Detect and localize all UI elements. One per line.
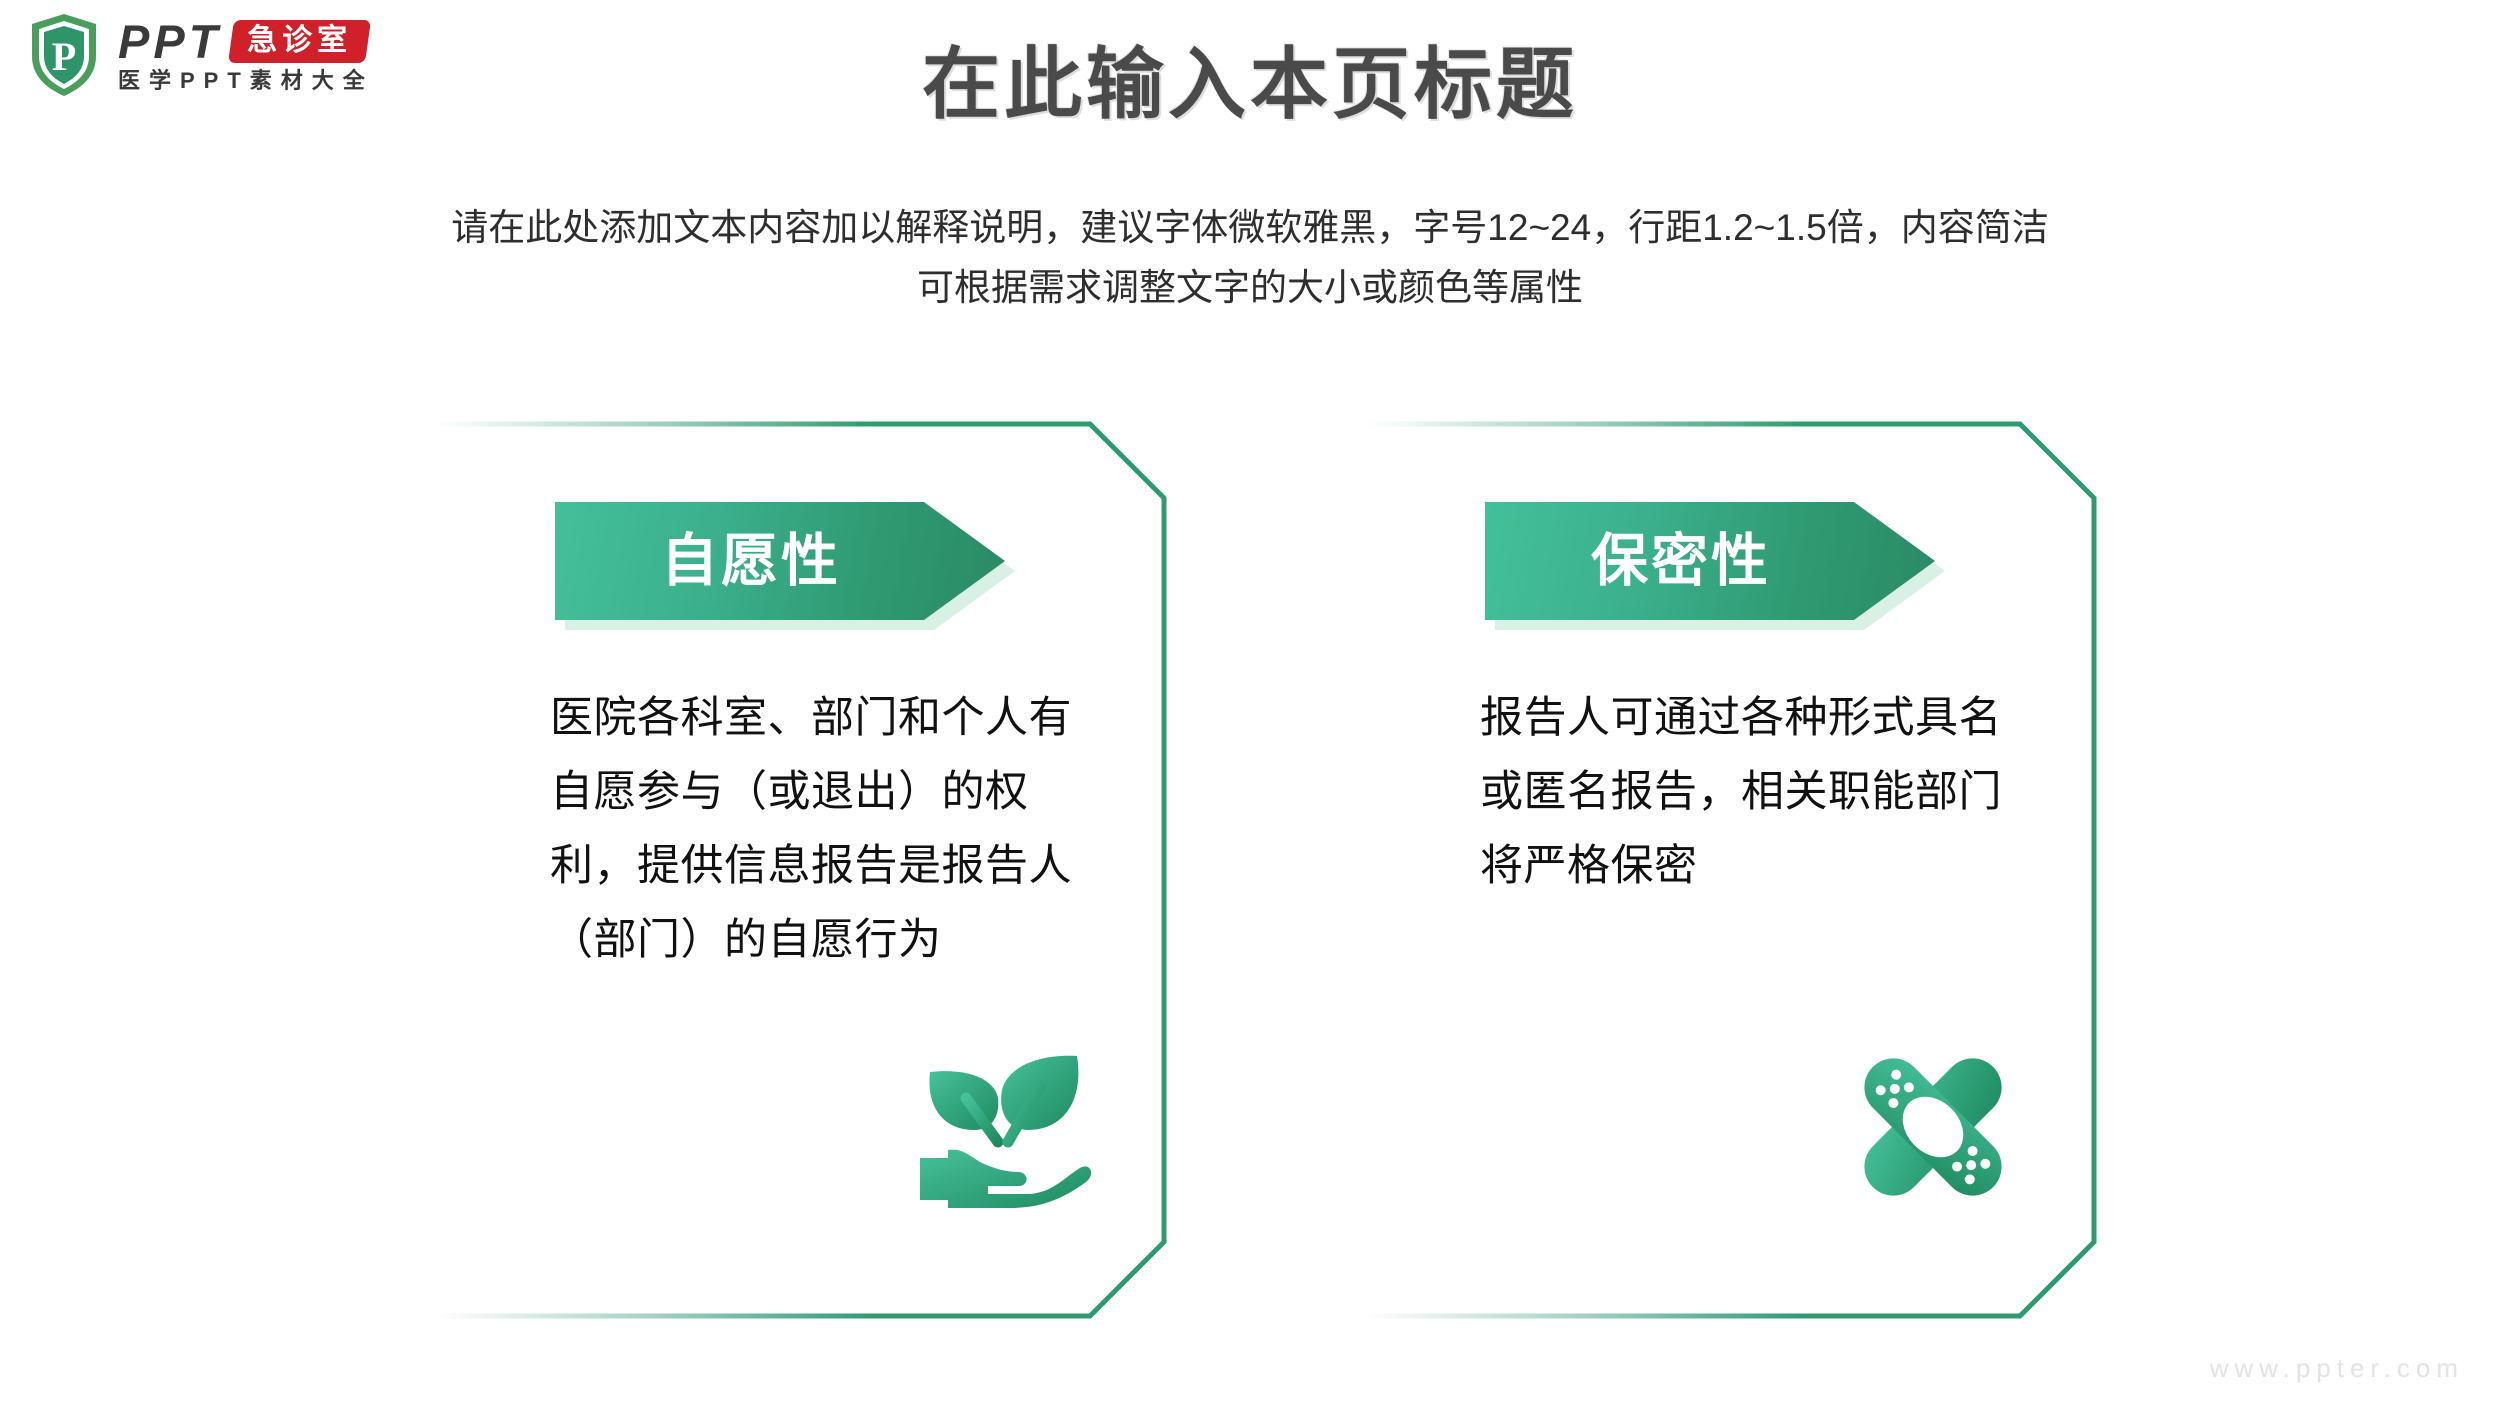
card-banner-voluntariness: 自愿性 (555, 502, 1005, 620)
card-confidentiality[interactable]: 保密性 报告人可通过各种形式具名或匿名报告，相关职能部门将严格保密 (1360, 410, 2100, 1330)
card-body-text: 医院各科室、部门和个人有自愿参与（或退出）的权利，提供信息报告是报告人（部门）的… (550, 682, 1095, 978)
card-banner-label: 保密性 (1591, 533, 1771, 590)
footer-watermark: www.ppter.com (2210, 1353, 2464, 1384)
card-body-text: 报告人可通过各种形式具名或匿名报告，相关职能部门将严格保密 (1480, 682, 2025, 904)
page-subtitle: 请在此处添加文本内容加以解释说明，建议字体微软雅黑，字号12~24，行距1.2~… (270, 198, 2230, 318)
slide-canvas: P PPT 急诊室 医学PPT素材大全 在此输入本页标题 请在此处添加文本内容加… (0, 0, 2500, 1406)
card-banner-label: 自愿性 (661, 533, 841, 590)
page-subtitle-line-2: 可根据需求调整文字的大小或颜色等属性 (270, 258, 2230, 318)
banner-body: 自愿性 (555, 502, 1005, 620)
cards-container: 自愿性 医院各科室、部门和个人有自愿参与（或退出）的权利，提供信息报告是报告人（… (0, 410, 2500, 1360)
page-subtitle-line-1: 请在此处添加文本内容加以解释说明，建议字体微软雅黑，字号12~24，行距1.2~… (270, 198, 2230, 258)
card-voluntariness[interactable]: 自愿性 医院各科室、部门和个人有自愿参与（或退出）的权利，提供信息报告是报告人（… (430, 410, 1170, 1330)
banner-body: 保密性 (1485, 502, 1935, 620)
page-title: 在此输入本页标题 (0, 42, 2500, 126)
sprout-in-hand-icon (914, 1042, 1092, 1212)
crossed-bandages-icon (1844, 1042, 2022, 1212)
card-banner-confidentiality: 保密性 (1485, 502, 1935, 620)
